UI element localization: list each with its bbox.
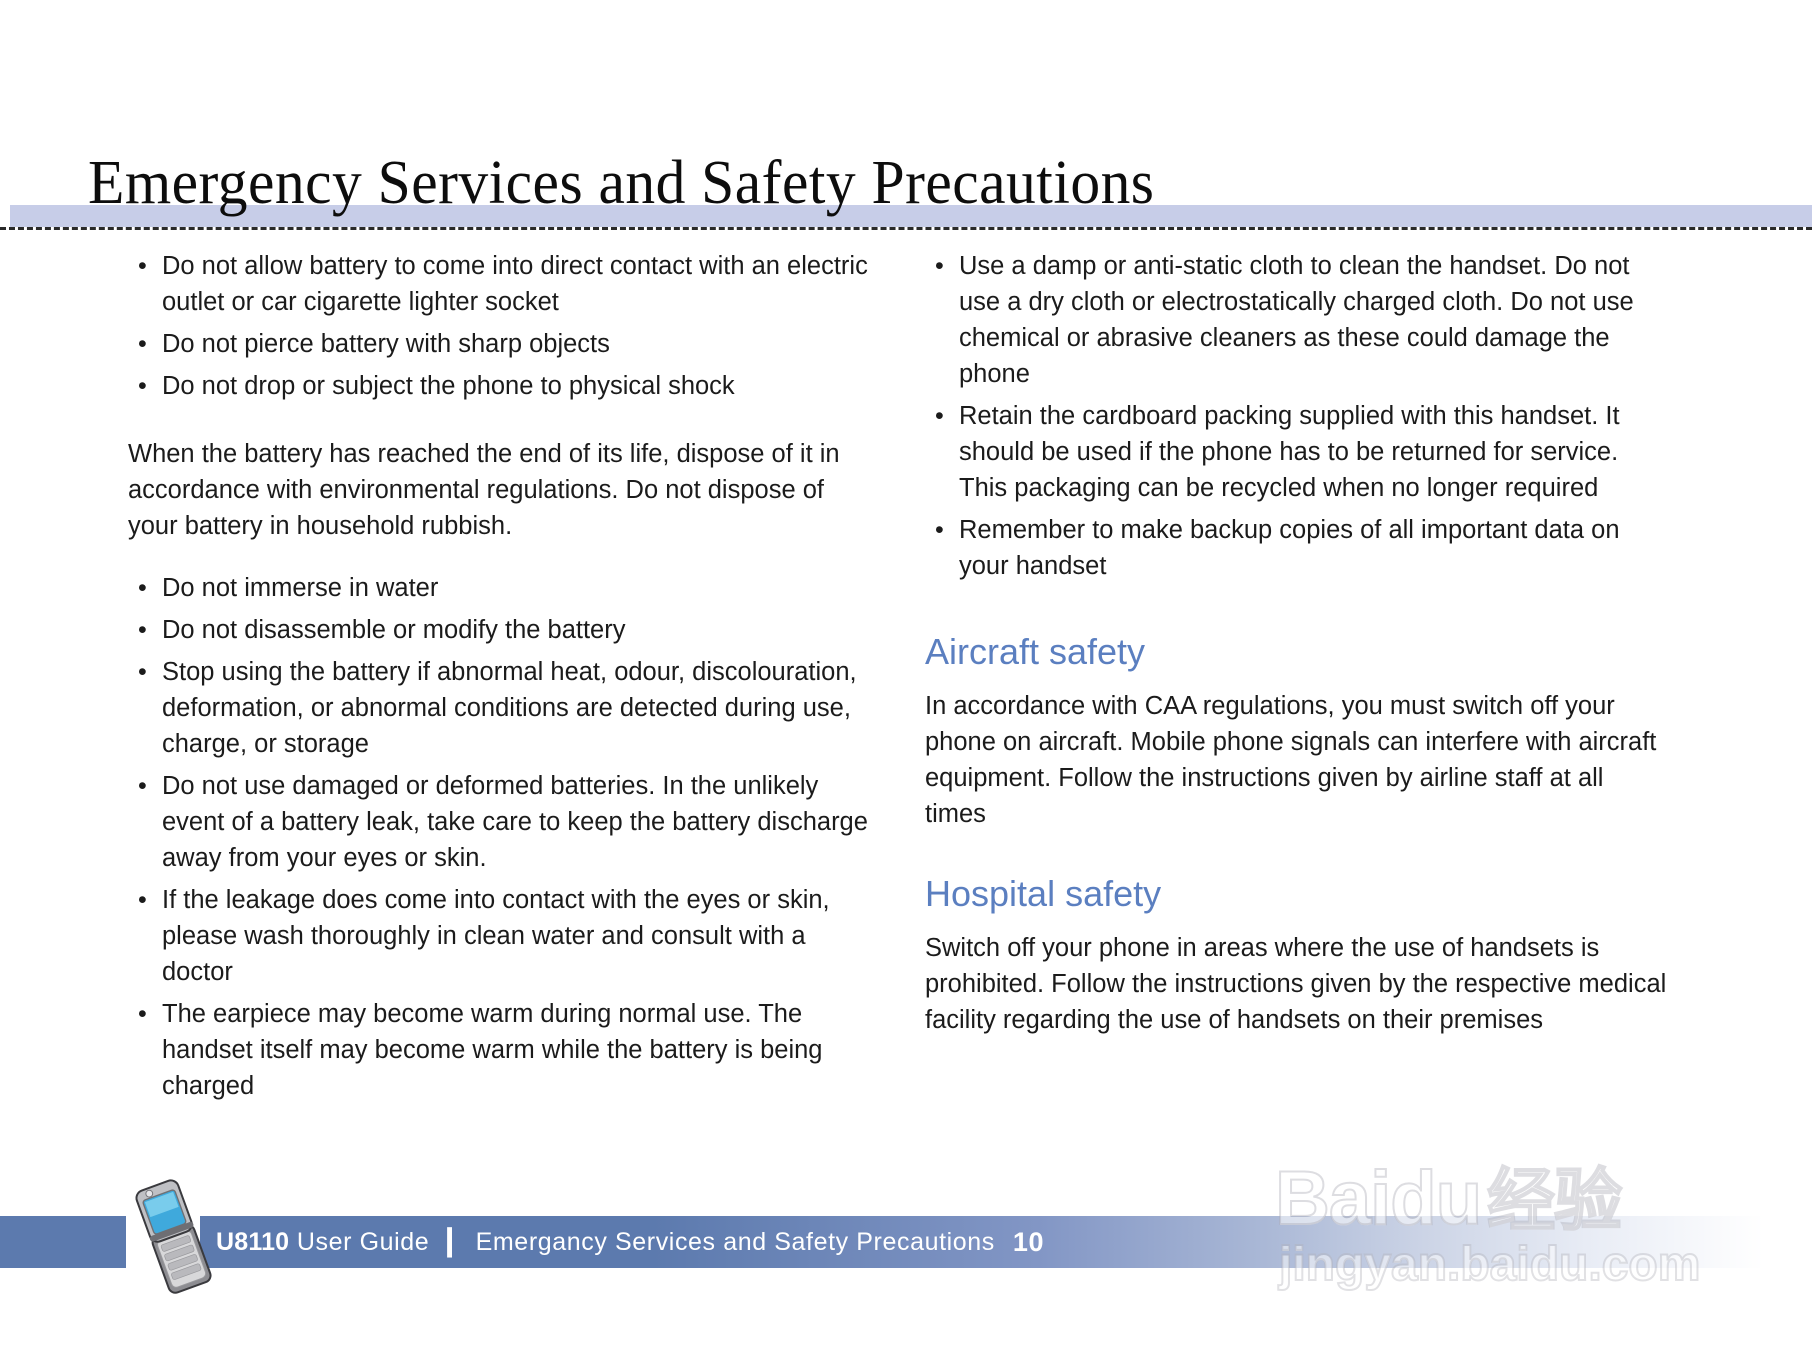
spacer (128, 544, 873, 570)
bullet-icon: • (935, 248, 944, 284)
page-footer: U8110 User Guide ▌ Emergancy Services an… (0, 1216, 1812, 1286)
hospital-safety-paragraph: Switch off your phone in areas where the… (925, 930, 1670, 1038)
list-item: • Remember to make backup copies of all … (925, 512, 1670, 584)
list-item-label: Do not pierce battery with sharp objects (162, 330, 610, 358)
battery-warnings-list-2: • Do not immerse in water • Do not disas… (128, 570, 873, 1104)
bullet-icon: • (138, 248, 147, 284)
footer-model-label: U8110 (216, 1228, 289, 1257)
list-item: • Do not allow battery to come into dire… (128, 248, 873, 320)
footer-page-number: 10 (1013, 1227, 1044, 1258)
section-heading-aircraft-safety: Aircraft safety (925, 630, 1670, 674)
list-item: • Do not immerse in water (128, 570, 873, 606)
handset-care-list: • Use a damp or anti-static cloth to cle… (925, 248, 1670, 584)
list-item: • Use a damp or anti-static cloth to cle… (925, 248, 1670, 392)
left-column: • Do not allow battery to come into dire… (128, 248, 873, 1110)
list-item-label: The earpiece may become warm during norm… (162, 1000, 823, 1100)
right-column: • Use a damp or anti-static cloth to cle… (925, 248, 1670, 1038)
content-area: • Do not allow battery to come into dire… (0, 248, 1812, 1178)
footer-guide-label: User Guide (297, 1228, 429, 1257)
flip-phone-icon (130, 1178, 220, 1298)
spacer (128, 410, 873, 436)
aircraft-safety-paragraph: In accordance with CAA regulations, you … (925, 688, 1670, 832)
footer-caption: U8110 User Guide ▌ Emergancy Services an… (216, 1216, 1044, 1268)
list-item-label: Use a damp or anti-static cloth to clean… (959, 252, 1634, 388)
battery-disposal-paragraph: When the battery has reached the end of … (128, 436, 873, 544)
list-item: • Do not drop or subject the phone to ph… (128, 368, 873, 404)
bullet-icon: • (935, 398, 944, 434)
bullet-icon: • (138, 996, 147, 1032)
list-item: • Stop using the battery if abnormal hea… (128, 654, 873, 762)
spacer (925, 590, 1670, 630)
list-item: • Do not pierce battery with sharp objec… (128, 326, 873, 362)
list-item-label: Do not use damaged or deformed batteries… (162, 772, 868, 872)
bullet-icon: • (138, 368, 147, 404)
bullet-icon: • (138, 326, 147, 362)
list-item: • Do not disassemble or modify the batte… (128, 612, 873, 648)
bullet-icon: • (138, 570, 147, 606)
header-band-left-notch (0, 205, 10, 227)
list-item: • If the leakage does come into contact … (128, 882, 873, 990)
section-heading-hospital-safety: Hospital safety (925, 872, 1670, 916)
spacer (925, 832, 1670, 872)
bullet-icon: • (935, 512, 944, 548)
list-item-label: Retain the cardboard packing supplied wi… (959, 402, 1620, 502)
bullet-icon: • (138, 882, 147, 918)
list-item-label: Remember to make backup copies of all im… (959, 516, 1620, 580)
footer-bar-left-segment (0, 1216, 126, 1268)
list-item-label: Do not disassemble or modify the battery (162, 616, 625, 644)
bullet-icon: • (138, 612, 147, 648)
page-title: Emergency Services and Safety Precaution… (88, 152, 1154, 214)
page-header: Emergency Services and Safety Precaution… (0, 0, 1812, 240)
list-item: • The earpiece may become warm during no… (128, 996, 873, 1104)
list-item-label: Do not immerse in water (162, 574, 438, 602)
footer-chapter-label: Emergancy Services and Safety Precaution… (476, 1228, 995, 1257)
header-dashed-rule (0, 227, 1812, 230)
footer-separator-icon: ▌ (447, 1230, 457, 1255)
list-item: • Retain the cardboard packing supplied … (925, 398, 1670, 506)
bullet-icon: • (138, 768, 147, 804)
list-item-label: Do not drop or subject the phone to phys… (162, 372, 735, 400)
bullet-icon: • (138, 654, 147, 690)
list-item: • Do not use damaged or deformed batteri… (128, 768, 873, 876)
list-item-label: Do not allow battery to come into direct… (162, 252, 868, 316)
list-item-label: If the leakage does come into contact wi… (162, 886, 830, 986)
list-item-label: Stop using the battery if abnormal heat,… (162, 658, 857, 758)
battery-warnings-list-1: • Do not allow battery to come into dire… (128, 248, 873, 404)
